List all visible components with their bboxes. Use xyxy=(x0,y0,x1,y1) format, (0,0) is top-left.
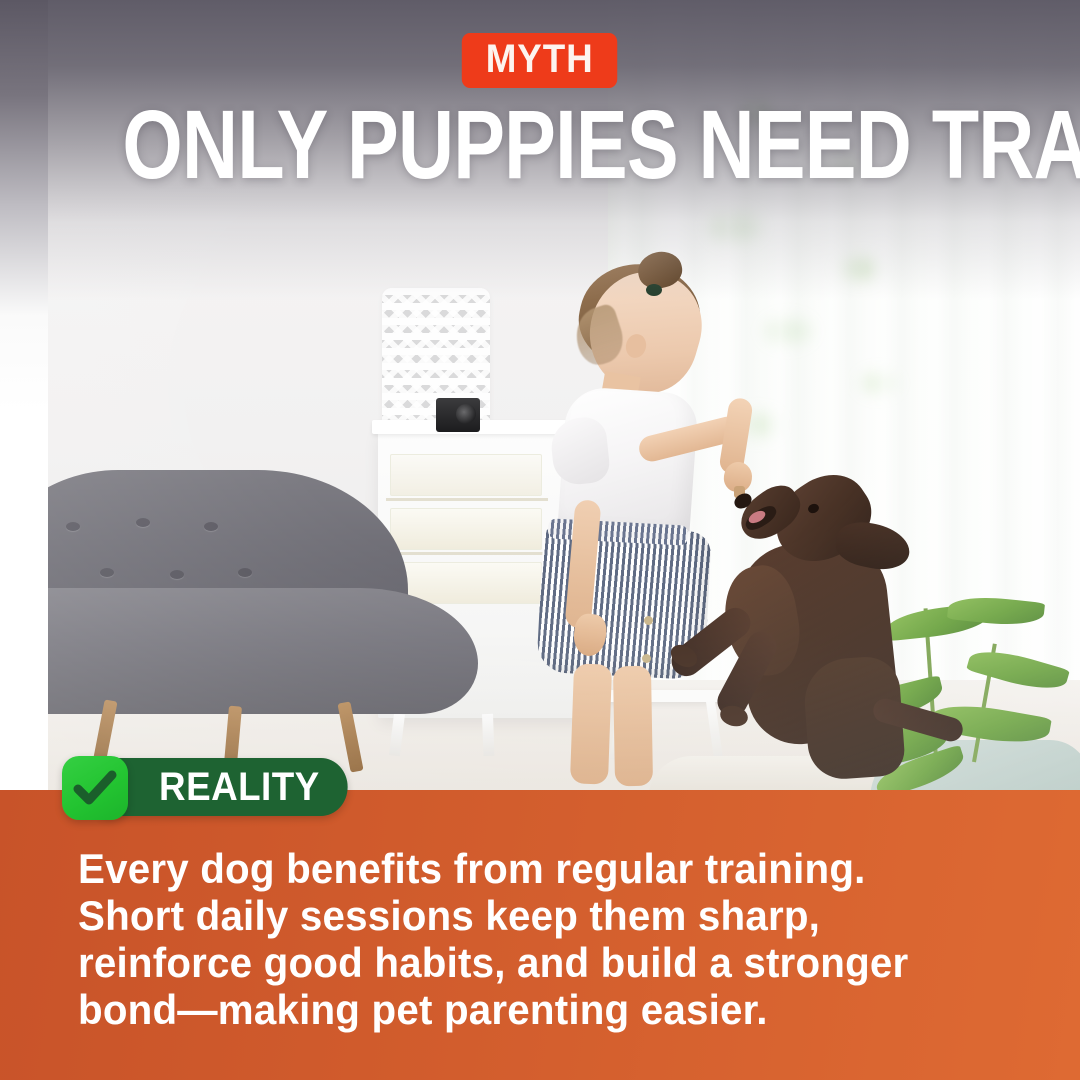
armchair-tuft xyxy=(238,568,252,577)
girl-leg xyxy=(570,663,612,784)
black-speaker xyxy=(436,398,480,432)
reality-body-text: Every dog benefits from regular training… xyxy=(78,845,980,1033)
armchair-seat xyxy=(48,588,478,714)
girl-hair-tie xyxy=(646,284,662,296)
armchair-tuft xyxy=(100,568,114,577)
skirt-button xyxy=(644,616,653,625)
myth-badge: MYTH xyxy=(462,33,618,88)
armchair-tuft xyxy=(66,522,80,531)
reality-panel: REALITY Every dog benefits from regular … xyxy=(0,790,1080,1080)
check-icon xyxy=(62,756,128,820)
girl-leg xyxy=(613,666,653,787)
dresser-leg xyxy=(482,714,494,756)
armchair-tuft xyxy=(170,570,184,579)
grey-armchair xyxy=(48,470,478,730)
header: MYTH ONLY PUPPIES NEED TRAINING. xyxy=(0,0,1080,210)
reality-badge: REALITY xyxy=(62,756,128,820)
girl-sleeve xyxy=(549,415,612,486)
armchair-tuft xyxy=(136,518,150,527)
reality-badge-label: REALITY xyxy=(102,758,347,816)
page-title: ONLY PUPPIES NEED TRAINING. xyxy=(108,100,972,189)
chocolate-labrador-puppy xyxy=(686,470,986,800)
myth-vs-reality-poster: MYTH ONLY PUPPIES NEED TRAINING. REALITY… xyxy=(0,0,1080,1080)
skirt-button xyxy=(642,654,651,663)
armchair-tuft xyxy=(204,522,218,531)
